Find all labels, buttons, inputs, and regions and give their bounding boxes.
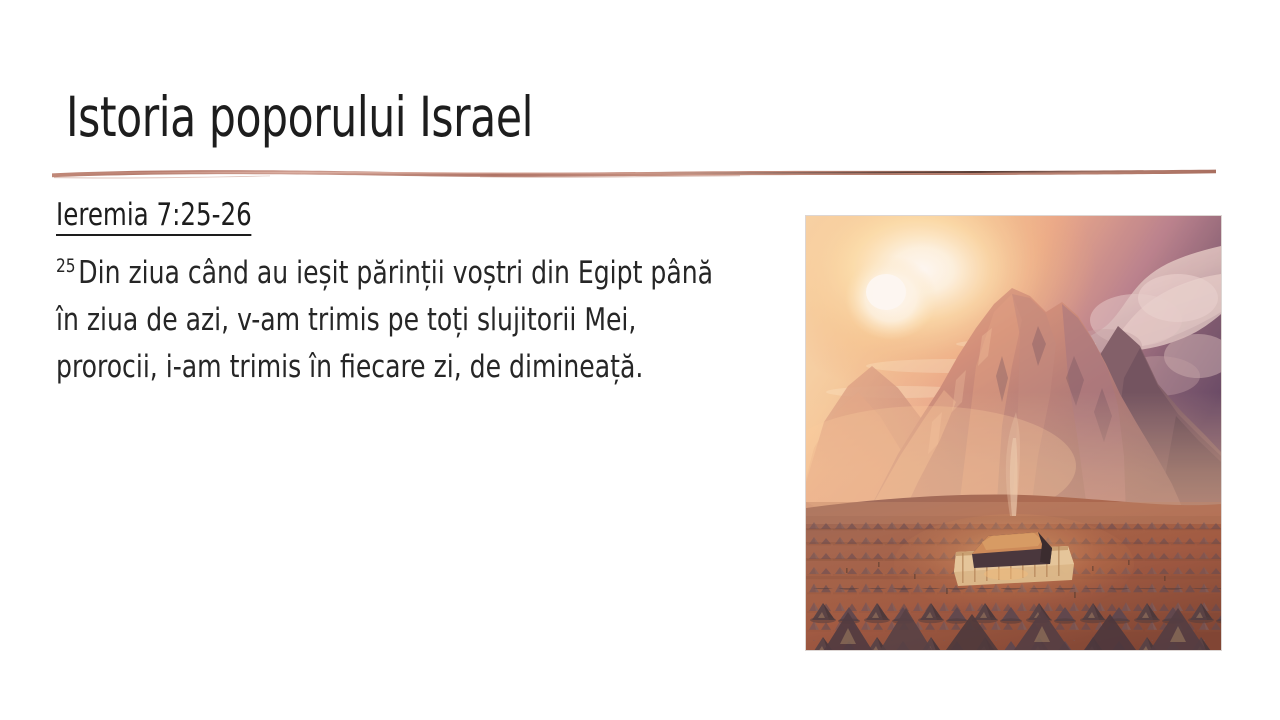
page-title: Istoria poporului Israel xyxy=(66,86,1012,148)
mount-sinai-israelite-camp-image xyxy=(806,216,1221,650)
scripture-reference: Ieremia 7:25-26 xyxy=(56,196,252,234)
verse-number: 25 xyxy=(56,255,76,277)
verse-line-3: prorocii, i-am trimis în fiecare zi, de … xyxy=(56,344,848,391)
verse-body: 25Din ziua când au ieșit părinții voștri… xyxy=(56,250,848,391)
verse-line-2: în ziua de azi, v-am trimis pe toți sluj… xyxy=(56,297,848,344)
verse-line-1: 25Din ziua când au ieșit părinții voștri… xyxy=(56,250,848,297)
slide-canvas: Istoria poporului Israel xyxy=(0,0,1280,720)
verse-line-1-text: Din ziua când au ieșit părinții voștri d… xyxy=(78,255,713,291)
brush-stroke-divider xyxy=(50,158,1220,186)
scripture-reference-text: Ieremia 7:25-26 xyxy=(56,197,252,236)
